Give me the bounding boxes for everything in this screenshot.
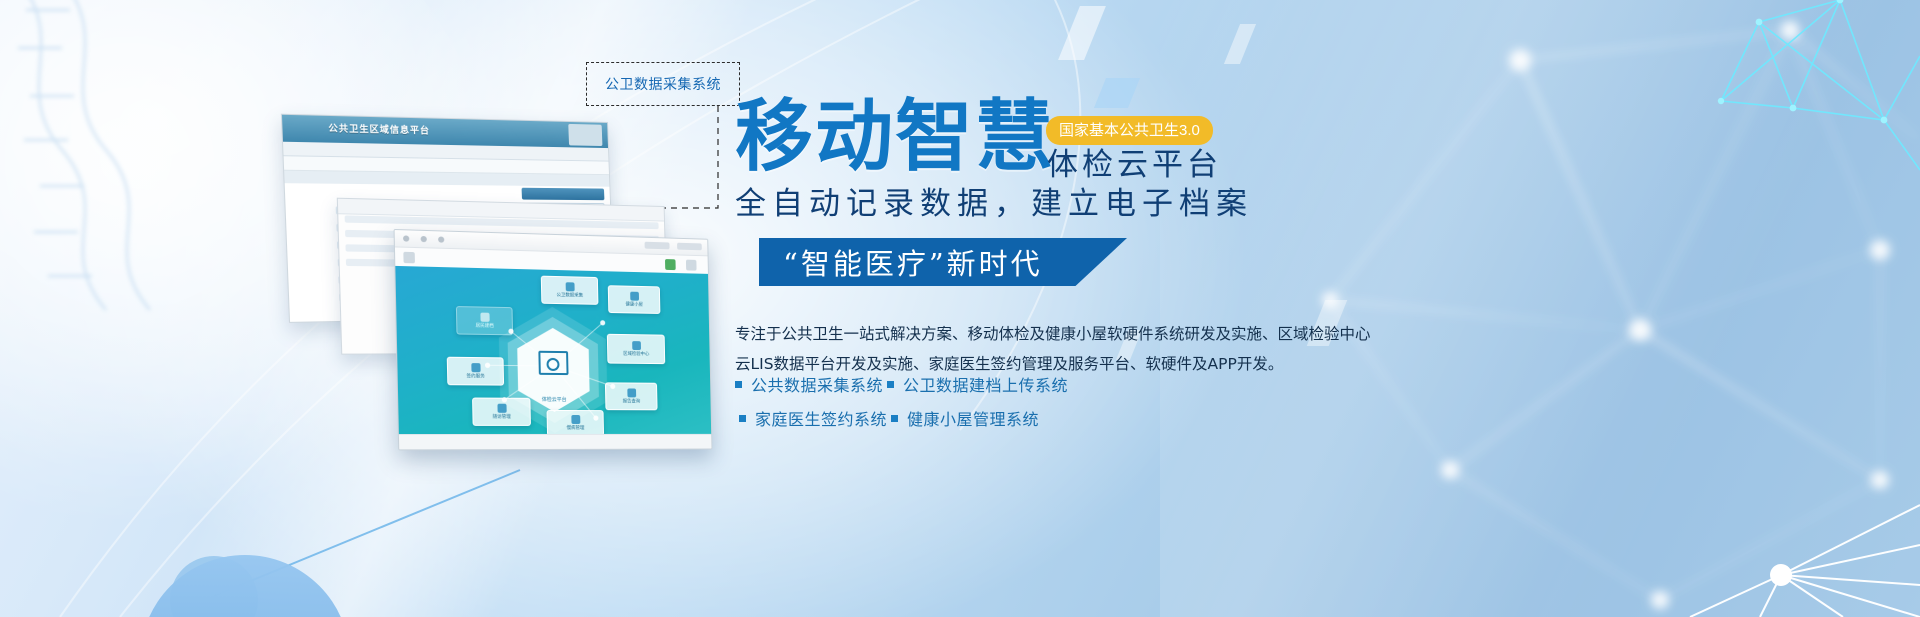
node-icon [627, 389, 636, 398]
feature-row: 家庭医生签约系统 健康小屋管理系统 [739, 406, 1355, 430]
feature-label: 公共数据采集系统 [751, 372, 883, 396]
window-controls [403, 235, 444, 242]
window-control-dot [421, 236, 427, 242]
dashboard-node[interactable]: 公卫数据采集 [541, 276, 599, 305]
description-line-1: 专注于公共卫生一站式解决方案、移动体检及健康小屋软硬件系统研发及实施、区域检验中… [735, 325, 1835, 344]
node-label: 区域检验中心 [623, 352, 649, 357]
dashboard-node[interactable]: 慢病管理 [547, 410, 605, 435]
callout-public-health-collection: 公卫数据采集系统 [586, 62, 740, 106]
headline-row: 移动智慧 国家基本公共卫生3.0 体检云平台 [735, 104, 1855, 180]
feature-label: 健康小屋管理系统 [907, 406, 1039, 430]
node-label: 报告查询 [623, 400, 640, 405]
right-light-band [1160, 0, 1920, 617]
node-icon [632, 341, 641, 350]
dashboard-node[interactable]: 健康小屋 [608, 285, 661, 314]
window-control-dot [438, 236, 444, 242]
node-icon [571, 415, 580, 424]
feature-item-archive-upload[interactable]: 公卫数据建档上传系统 [887, 372, 1068, 396]
feature-list: 公共数据采集系统 公卫数据建档上传系统 家庭医生签约系统 健康小屋管理系统 [735, 372, 1355, 440]
bullet-icon [891, 415, 898, 422]
header-avatar-image [568, 124, 602, 146]
dna-helix-decoration [0, 0, 220, 380]
dashboard-node[interactable]: 随访管理 [472, 398, 531, 426]
badge-national-standard: 国家基本公共卫生3.0 [1046, 116, 1213, 145]
report-search-icon [538, 351, 568, 375]
headline-main: 移动智慧 [735, 98, 1055, 176]
toolbar-icon [686, 260, 697, 271]
accent-chip [1058, 6, 1106, 60]
feature-item-health-cabin[interactable]: 健康小屋管理系统 [891, 406, 1039, 430]
node-icon [565, 282, 574, 291]
bottom-left-shape [140, 555, 350, 617]
promo-banner: 公卫数据采集系统 公共卫生区域信息平台 [0, 0, 1920, 617]
node-label: 随访管理 [493, 415, 511, 420]
dashboard-node[interactable]: 签约服务 [447, 357, 504, 386]
node-icon [497, 404, 506, 413]
window-title: 公共卫生区域信息平台 [328, 121, 430, 137]
feature-item-family-doctor[interactable]: 家庭医生签约系统 [739, 406, 891, 430]
nav-header [522, 188, 605, 200]
title-bar-actions [645, 242, 702, 251]
dashboard-node[interactable]: 居民建档 [456, 306, 513, 335]
dashboard-node[interactable]: 报告查询 [605, 382, 658, 410]
dashboard-canvas: 体检云平台 公卫数据采集 健康小屋 居民建档 区域检验中心 [395, 266, 711, 435]
dashboard-node[interactable]: 区域检验中心 [607, 334, 665, 364]
screenshot-window-front: 体检云平台 公卫数据采集 健康小屋 居民建档 区域检验中心 [394, 229, 713, 450]
title-bar-action [677, 243, 702, 251]
product-screenshot-group: 公共卫生区域信息平台 [288, 118, 718, 448]
headline-line2: 全自动记录数据，建立电子档案 [735, 184, 1855, 224]
ribbon-banner: “智能医疗”新时代 [759, 238, 1127, 286]
node-icon [480, 313, 489, 322]
node-label: 签约服务 [466, 374, 484, 379]
node-label: 慢病管理 [567, 426, 585, 430]
toolbar-icon [665, 259, 676, 270]
feature-row: 公共数据采集系统 公卫数据建档上传系统 [735, 372, 1355, 396]
node-label: 公卫数据采集 [556, 293, 583, 298]
accent-chip [1224, 24, 1256, 64]
headline-sub: 体检云平台 [1047, 148, 1222, 182]
feature-item-public-data-collection[interactable]: 公共数据采集系统 [735, 372, 887, 396]
node-label: 居民建档 [476, 324, 494, 329]
ribbon-text: “智能医疗”新时代 [783, 241, 1043, 283]
node-icon [471, 363, 480, 372]
headline-block: 移动智慧 国家基本公共卫生3.0 体检云平台 全自动记录数据，建立电子档案 “智… [735, 104, 1855, 290]
ribbon-wrap: “智能医疗”新时代 [735, 238, 1135, 290]
feature-label: 公卫数据建档上传系统 [903, 372, 1068, 396]
status-bar [399, 434, 712, 449]
toolbar-icon [403, 252, 415, 264]
node-icon [630, 292, 639, 301]
title-bar-action [645, 242, 670, 250]
feature-label: 家庭医生签约系统 [755, 406, 887, 430]
bullet-icon [887, 381, 894, 388]
callout-label: 公卫数据采集系统 [605, 74, 721, 94]
bullet-icon [739, 415, 746, 422]
window-control-dot [403, 235, 409, 241]
bullet-icon [735, 381, 742, 388]
node-label: 健康小屋 [626, 303, 643, 308]
